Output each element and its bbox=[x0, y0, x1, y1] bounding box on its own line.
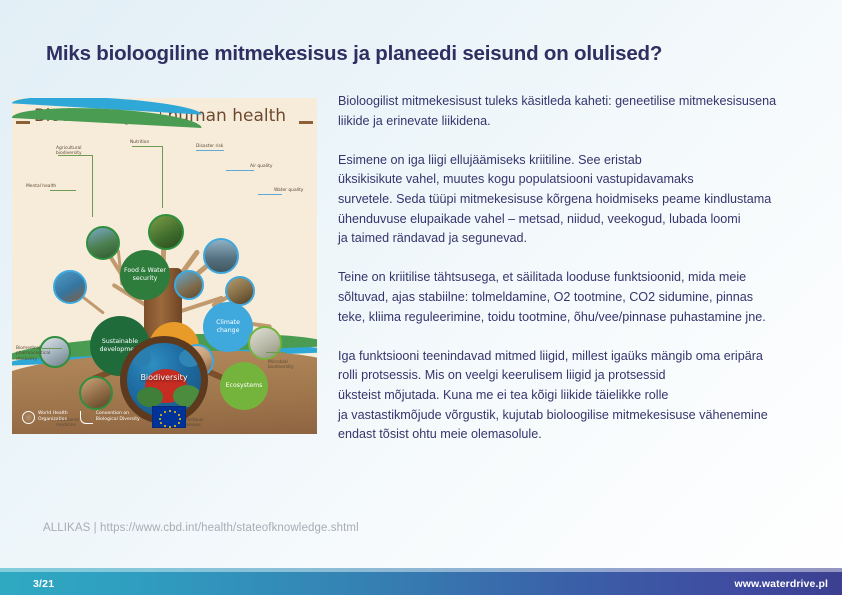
infographic-logos: World Health Organization Convention on … bbox=[22, 406, 186, 428]
leader-water-quality bbox=[258, 194, 282, 195]
footer-url: www.waterdrive.pl bbox=[734, 578, 828, 590]
hub-food-water-security: Food & Water security bbox=[120, 250, 170, 300]
coral-blue-2 bbox=[179, 349, 201, 367]
photo-microbial-biodiversity bbox=[248, 326, 282, 360]
slide-root: Miks bioloogiline mitmekesisus ja planee… bbox=[0, 0, 842, 595]
logo-cbd-label: Convention on Biological Diversity bbox=[96, 411, 140, 422]
title-rule-right bbox=[299, 121, 313, 124]
coral-blue bbox=[131, 349, 151, 367]
biodiversity-infographic: Biodiversity and human health Food & Wat… bbox=[12, 98, 317, 434]
label-water-quality: Water quality bbox=[274, 188, 303, 193]
photo-nutrition bbox=[148, 214, 184, 250]
medallion-label: Biodiversity bbox=[127, 373, 201, 382]
photo-air-quality bbox=[174, 270, 204, 300]
photo-disaster-risk bbox=[203, 238, 239, 274]
coral-green-left bbox=[137, 387, 163, 407]
logo-who-label: World Health Organization bbox=[38, 411, 68, 422]
page-title: Miks bioloogiline mitmekesisus ja planee… bbox=[46, 42, 806, 66]
body-text: Bioloogilist mitmekesisust tuleks käsitl… bbox=[338, 92, 838, 445]
label-nutrition: Nutrition bbox=[130, 140, 149, 145]
slide-number: 3/21 bbox=[33, 578, 54, 590]
label-air-quality: Air quality bbox=[250, 164, 272, 169]
label-microbial-biodiversity: Microbial biodiversity bbox=[268, 360, 294, 371]
coral-green-right bbox=[173, 385, 201, 407]
hub-label: Climate change bbox=[216, 319, 240, 335]
leader-air-quality bbox=[226, 170, 254, 171]
source-line: ALLIKAS | https://www.cbd.int/health/sta… bbox=[43, 522, 359, 534]
label-disaster-risk: Disaster risk bbox=[196, 144, 223, 149]
photo-traditional-medicine bbox=[79, 376, 113, 410]
cbd-leaf-icon bbox=[80, 411, 93, 424]
eu-flag-icon bbox=[152, 406, 186, 428]
hub-label: Ecosystems bbox=[226, 382, 263, 390]
paragraph-3: Teine on kriitilise tähtsusega, et säili… bbox=[338, 268, 838, 327]
who-icon bbox=[22, 411, 35, 424]
leader-disaster bbox=[196, 150, 224, 151]
title-rule-left bbox=[16, 121, 30, 124]
leader-nutrition-v bbox=[162, 146, 163, 208]
photo-agricultural-biodiversity bbox=[86, 226, 120, 260]
label-mental-health: Mental health bbox=[26, 184, 56, 189]
label-agricultural-biodiversity: Agricultural biodiversity bbox=[56, 146, 82, 157]
leader-agricultural-v bbox=[92, 155, 93, 217]
logo-cbd: Convention on Biological Diversity bbox=[80, 411, 140, 424]
footer-bar: 3/21 www.waterdrive.pl bbox=[0, 572, 842, 595]
photo-water-quality bbox=[225, 276, 255, 306]
leader-mental-health bbox=[50, 190, 76, 191]
paragraph-4: Iga funktsiooni teenindavad mitmed liigi… bbox=[338, 347, 838, 445]
hub-label: Food & Water security bbox=[124, 267, 166, 283]
leader-nutrition bbox=[132, 146, 162, 147]
hub-ecosystems: Ecosystems bbox=[220, 362, 268, 410]
leader-microbial bbox=[266, 352, 286, 353]
paragraph-1: Bioloogilist mitmekesisust tuleks käsitl… bbox=[338, 92, 838, 131]
label-biomedical-discovery: Biomedical pharmaceutical discovery bbox=[16, 346, 50, 362]
photo-mental-health bbox=[53, 270, 87, 304]
hub-climate-change: Climate change bbox=[203, 302, 253, 352]
paragraph-2: Esimene on iga liigi ellujäämiseks kriit… bbox=[338, 151, 838, 249]
logo-who: World Health Organization bbox=[22, 411, 68, 424]
